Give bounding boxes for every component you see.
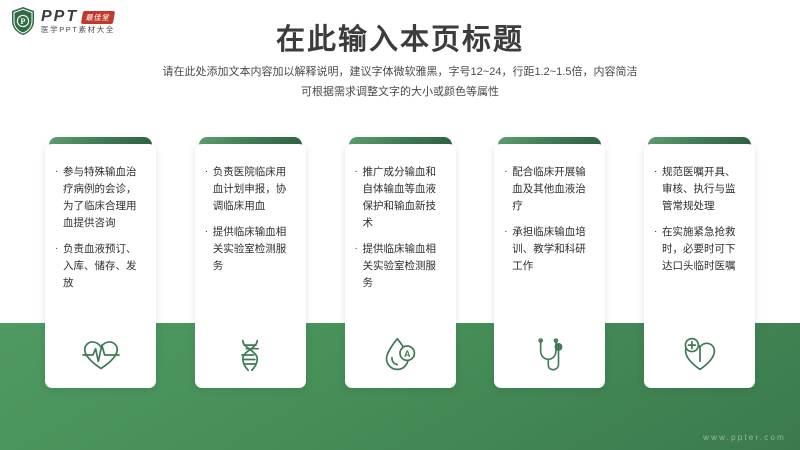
list-item: · 推广成分输血和自体输血等血液保护和输血新技术 xyxy=(355,164,446,232)
subtitle-line-2: 可根据需求调整文字的大小或颜色等属性 xyxy=(0,82,800,102)
page-title: 在此输入本页标题 xyxy=(0,16,800,58)
card-body[interactable]: · 推广成分输血和自体输血等血液保护和输血新技术 · 提供临床输血相关实验室检测… xyxy=(345,144,456,388)
list-item-text: 参与特殊输血治疗病例的会诊，为了临床合理用血提供咨询 xyxy=(63,164,146,232)
card-bullet-list: · 负责医院临床用血计划申报，协调临床用血 · 提供临床输血相关实验室检测服务 xyxy=(205,164,296,322)
list-item: · 负责血液预订、入库、储存、发放 xyxy=(55,241,146,292)
bullet-marker-icon: · xyxy=(504,224,512,275)
bullet-marker-icon: · xyxy=(55,241,63,292)
card-body[interactable]: · 参与特殊输血治疗病例的会诊，为了临床合理用血提供咨询 · 负责血液预订、入库… xyxy=(45,144,156,388)
list-item: · 配合临床开展输血及其他血液治疗 xyxy=(504,164,595,215)
subtitle-line-1: 请在此处添加文本内容加以解释说明，建议字体微软雅黑，字号12~24，行距1.2~… xyxy=(0,62,800,82)
bullet-marker-icon: · xyxy=(355,241,363,292)
card-bullet-list: · 规范医嘱开具、审核、执行与监管常规处理 · 在实施紧急抢救时，必要时可下达口… xyxy=(654,164,745,322)
bullet-marker-icon: · xyxy=(205,224,213,275)
card-body[interactable]: · 规范医嘱开具、审核、执行与监管常规处理 · 在实施紧急抢救时，必要时可下达口… xyxy=(644,144,755,388)
card-bullet-list: · 推广成分输血和自体输血等血液保护和输血新技术 · 提供临床输血相关实验室检测… xyxy=(355,164,446,322)
list-item-text: 提供临床输血相关实验室检测服务 xyxy=(213,224,296,275)
card-item[interactable]: · 负责医院临床用血计划申报，协调临床用血 · 提供临床输血相关实验室检测服务 xyxy=(195,137,306,388)
stethoscope-icon xyxy=(504,322,595,388)
card-body[interactable]: · 配合临床开展输血及其他血液治疗 · 承担临床输血培训、教学和科研工作 xyxy=(494,144,605,388)
list-item-text: 负责医院临床用血计划申报，协调临床用血 xyxy=(213,164,296,215)
card-item[interactable]: · 配合临床开展输血及其他血液治疗 · 承担临床输血培训、教学和科研工作 xyxy=(494,137,605,388)
page-subtitle: 请在此处添加文本内容加以解释说明，建议字体微软雅黑，字号12~24，行距1.2~… xyxy=(0,62,800,103)
list-item: · 规范医嘱开具、审核、执行与监管常规处理 xyxy=(654,164,745,215)
svg-text:A: A xyxy=(404,349,411,359)
bullet-marker-icon: · xyxy=(55,164,63,232)
card-item[interactable]: · 参与特殊输血治疗病例的会诊，为了临床合理用血提供咨询 · 负责血液预订、入库… xyxy=(45,137,156,388)
list-item-text: 提供临床输血相关实验室检测服务 xyxy=(363,241,446,292)
list-item-text: 承担临床输血培训、教学和科研工作 xyxy=(512,224,595,275)
bullet-marker-icon: · xyxy=(654,224,662,275)
watermark-text: www.ppter.com xyxy=(703,433,786,442)
list-item: · 提供临床输血相关实验室检测服务 xyxy=(205,224,296,275)
heart-plus-icon xyxy=(654,322,745,388)
list-item-text: 在实施紧急抢救时，必要时可下达口头临时医嘱 xyxy=(662,224,745,275)
bullet-marker-icon: · xyxy=(355,164,363,232)
card-bullet-list: · 参与特殊输血治疗病例的会诊，为了临床合理用血提供咨询 · 负责血液预订、入库… xyxy=(55,164,146,322)
card-bullet-list: · 配合临床开展输血及其他血液治疗 · 承担临床输血培训、教学和科研工作 xyxy=(504,164,595,322)
list-item: · 负责医院临床用血计划申报，协调临床用血 xyxy=(205,164,296,215)
bullet-marker-icon: · xyxy=(654,164,662,215)
list-item: · 参与特殊输血治疗病例的会诊，为了临床合理用血提供咨询 xyxy=(55,164,146,232)
card-item[interactable]: · 推广成分输血和自体输血等血液保护和输血新技术 · 提供临床输血相关实验室检测… xyxy=(345,137,456,388)
card-row: · 参与特殊输血治疗病例的会诊，为了临床合理用血提供咨询 · 负责血液预订、入库… xyxy=(45,137,755,388)
card-item[interactable]: · 规范医嘱开具、审核、执行与监管常规处理 · 在实施紧急抢救时，必要时可下达口… xyxy=(644,137,755,388)
list-item-text: 负责血液预订、入库、储存、发放 xyxy=(63,241,146,292)
list-item: · 在实施紧急抢救时，必要时可下达口头临时医嘱 xyxy=(654,224,745,275)
list-item-text: 推广成分输血和自体输血等血液保护和输血新技术 xyxy=(363,164,446,232)
list-item-text: 配合临床开展输血及其他血液治疗 xyxy=(512,164,595,215)
heartbeat-icon xyxy=(55,322,146,388)
list-item: · 提供临床输血相关实验室检测服务 xyxy=(355,241,446,292)
blood-drop-type-icon: A xyxy=(355,322,446,388)
card-body[interactable]: · 负责医院临床用血计划申报，协调临床用血 · 提供临床输血相关实验室检测服务 xyxy=(195,144,306,388)
bullet-marker-icon: · xyxy=(205,164,213,215)
dna-icon xyxy=(205,322,296,388)
list-item-text: 规范医嘱开具、审核、执行与监管常规处理 xyxy=(662,164,745,215)
list-item: · 承担临床输血培训、教学和科研工作 xyxy=(504,224,595,275)
bullet-marker-icon: · xyxy=(504,164,512,215)
